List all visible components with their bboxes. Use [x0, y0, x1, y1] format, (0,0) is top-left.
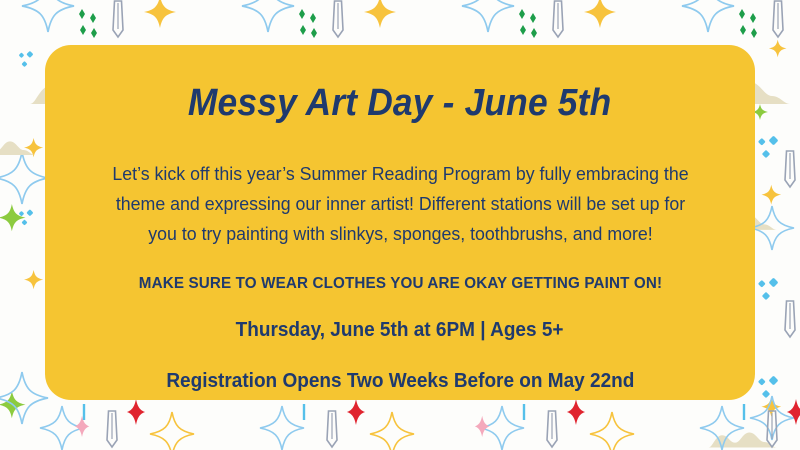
event-card: Messy Art Day - June 5th Let’s kick off … — [45, 45, 755, 400]
event-datetime-age: Thursday, June 5th at 6PM | Ages 5+ — [236, 319, 564, 342]
clothing-warning: MAKE SURE TO WEAR CLOTHES YOU ARE OKAY G… — [138, 275, 661, 293]
poster-canvas: Messy Art Day - June 5th Let’s kick off … — [0, 0, 800, 450]
page-title: Messy Art Day - June 5th — [188, 83, 611, 125]
event-description: Let’s kick off this year’s Summer Readin… — [100, 159, 700, 249]
registration-notice: Registration Opens Two Weeks Before on M… — [166, 370, 634, 393]
